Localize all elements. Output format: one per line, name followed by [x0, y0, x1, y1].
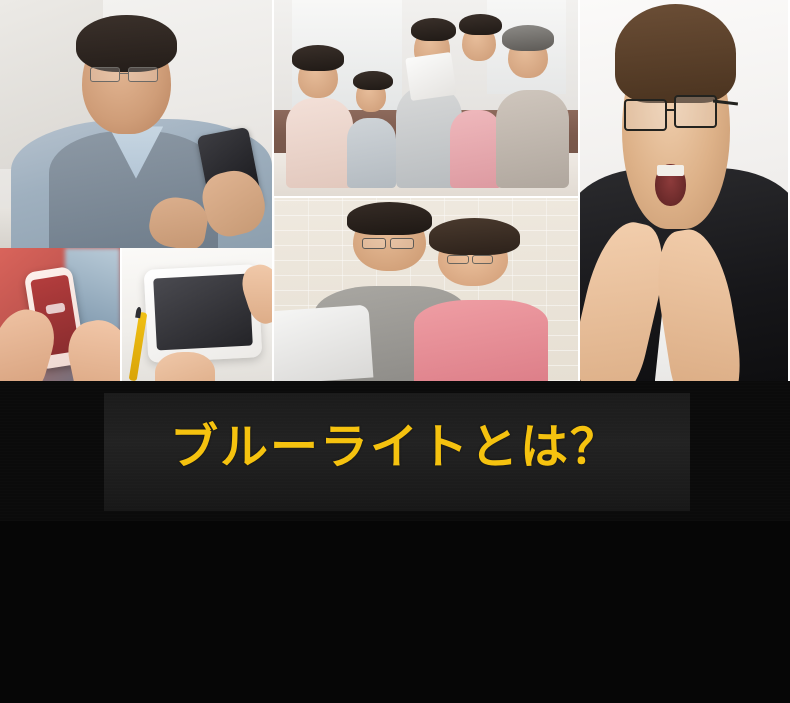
title-band: ブルーライトとは？ — [0, 381, 790, 521]
photo-hands-white-tablet — [120, 248, 272, 381]
collage-column-right — [580, 0, 788, 381]
photo-family-group-sofa — [274, 0, 578, 196]
photo-senior-couple-laptop — [274, 196, 578, 381]
collage-column-left — [0, 0, 272, 381]
blue-light-infographic: ブルーライトとは？ ブルーライト 紫外線 ブルーライト 可視光線 赤外線 400… — [0, 0, 790, 703]
page-title: ブルーライトとは？ — [0, 407, 790, 477]
collage-row-left-bottom — [0, 248, 272, 381]
photo-senior-man-smartphone — [0, 0, 272, 248]
collage-column-middle — [272, 0, 580, 381]
photo-collage — [0, 0, 790, 381]
spectrum-section: ブルーライト 紫外線 ブルーライト 可視光線 赤外線 400nm 780波長(n… — [0, 521, 790, 703]
photo-shocked-man-glasses — [580, 0, 788, 381]
photo-hands-pink-smartphone — [0, 248, 120, 381]
